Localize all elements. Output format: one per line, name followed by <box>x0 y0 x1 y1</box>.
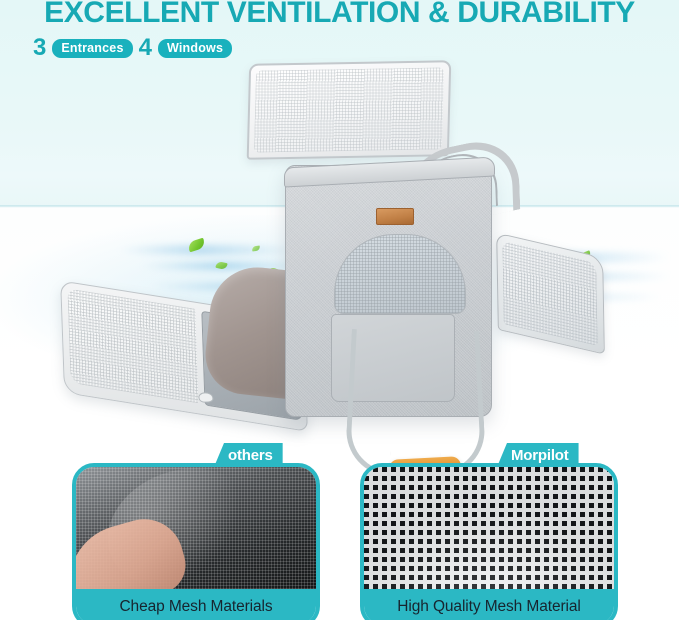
comparison-panel-others: Cheap Mesh Materials <box>72 463 320 620</box>
top-flap-mesh-texture <box>254 67 444 152</box>
side-flap-mesh-texture <box>67 288 198 403</box>
page-title: EXCELLENT VENTILATION & DURABILITY <box>0 0 679 28</box>
quality-mesh-photo <box>364 467 614 589</box>
leaf-icon <box>252 245 261 251</box>
infographic-canvas: EXCELLENT VENTILATION & DURABILITY 3 Ent… <box>0 0 679 620</box>
photo-curvature-shading <box>364 467 614 589</box>
cheap-mesh-photo <box>76 467 316 589</box>
product-photo <box>0 40 679 460</box>
comparison-section: others Cheap Mesh Materials Morpilot Hig… <box>0 443 679 620</box>
airflow-streak-left-1 <box>118 245 298 255</box>
mesh-top-flap <box>247 60 452 160</box>
brand-leather-tag <box>376 208 414 225</box>
side-window-mesh-texture <box>502 241 597 346</box>
comparison-panel-morpilot: High Quality Mesh Material <box>360 463 618 620</box>
panel-caption-morpilot: High Quality Mesh Material <box>364 589 614 620</box>
leaf-icon <box>187 238 206 253</box>
leaf-icon <box>215 261 227 270</box>
panel-caption-others: Cheap Mesh Materials <box>76 589 316 620</box>
